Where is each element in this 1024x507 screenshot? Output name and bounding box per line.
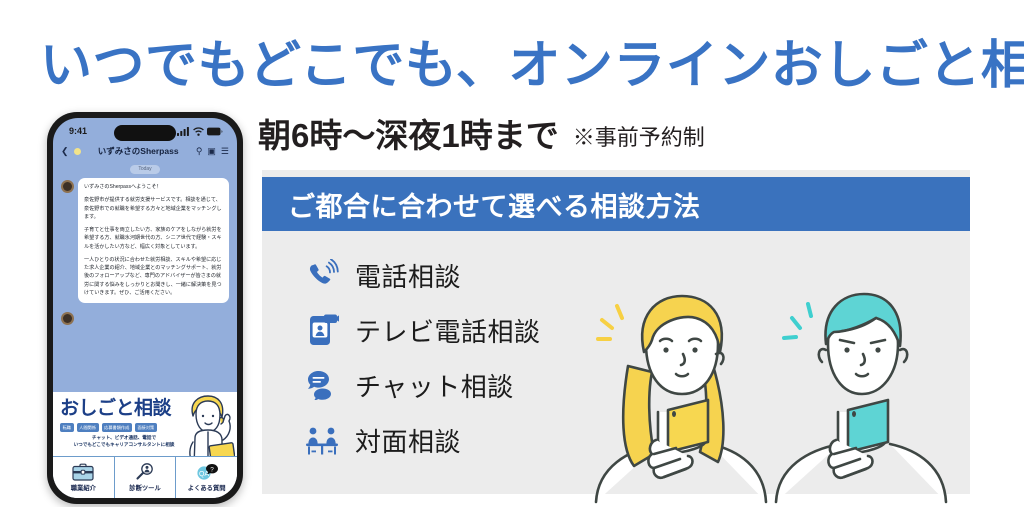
avatar xyxy=(61,180,74,193)
nav-item-label: 職業紹介 xyxy=(71,483,96,492)
consultation-options-list: 電話相談 テレビ電話相談 xyxy=(300,252,541,463)
list-item[interactable]: 対面相談 xyxy=(300,417,541,463)
subheading: 朝6時〜深夜1時まで ※事前予約制 xyxy=(258,116,705,156)
slide-canvas: いつでもどこでも、オンラインおしごと相談 朝6時〜深夜1時まで ※事前予約制 ご… xyxy=(0,0,1024,507)
avatar xyxy=(74,148,81,155)
chat-paragraph: 子育てと仕事を両立したい方、家族のケアをしながら就労を希望する方、就職氷河期世代… xyxy=(84,226,223,251)
phone-notch xyxy=(114,125,176,141)
search-icon[interactable]: ⚲ xyxy=(196,147,203,156)
video-call-phone-icon xyxy=(300,309,346,351)
status-badge: 転職 xyxy=(60,423,74,432)
list-item[interactable]: テレビ電話相談 xyxy=(300,307,541,353)
two-people-with-smartphones-illustration xyxy=(590,282,990,504)
status-badge: 応募書類作成 xyxy=(102,423,132,432)
chat-paragraph: いずみさのSherpassへようこそ！ xyxy=(84,183,223,191)
panel-header-bar: ご都合に合わせて選べる相談方法 xyxy=(262,177,970,231)
nav-item-label: よくある質問 xyxy=(188,483,226,492)
phone-ringing-icon xyxy=(300,254,346,296)
list-item[interactable]: 電話相談 xyxy=(300,252,541,298)
face-to-face-meeting-icon xyxy=(300,419,346,461)
promo-subtitle: チャット、ビデオ通話、電話で いつでもどこでもキャリアコンサルタントに相談 xyxy=(60,435,188,449)
promo-card[interactable]: おしごと相談 転職 人間関係 応募書類作成 面接対策 チャット、ビデオ通話、電話… xyxy=(53,392,237,498)
app-title: いずみさのSherpass xyxy=(86,145,191,157)
status-badge: 面接対策 xyxy=(135,423,157,432)
chat-bubble: いずみさのSherpassへようこそ！ 泉佐野市が提供する就労支援サービスです。… xyxy=(78,178,229,303)
hours-text: 朝6時〜深夜1時まで xyxy=(258,116,559,156)
promo-top: おしごと相談 転職 人間関係 応募書類作成 面接対策 チャット、ビデオ通話、電話… xyxy=(53,392,237,456)
chat-paragraph: 泉佐野市が提供する就労支援サービスです。相談を通じて、泉佐野市での就職を希望する… xyxy=(84,196,223,221)
list-item-label: 対面相談 xyxy=(355,422,461,459)
nav-item-diagnosis[interactable]: 診断ツール xyxy=(115,457,177,498)
status-time: 9:41 xyxy=(69,126,87,136)
nav-item-jobs[interactable]: 職業紹介 xyxy=(53,457,115,498)
avatar xyxy=(61,312,74,325)
chat-message-row: いずみさのSherpassへようこそ！ 泉佐野市が提供する就労支援サービスです。… xyxy=(53,178,237,303)
briefcase-icon xyxy=(72,463,94,481)
reservation-note: ※事前予約制 xyxy=(573,120,705,156)
qa-bubble-icon: QA ? xyxy=(194,463,220,481)
svg-text:?: ? xyxy=(210,466,214,473)
phone-screen: 9:41 xyxy=(53,118,237,498)
date-divider-chip: Today xyxy=(130,165,160,174)
signal-bars-icon xyxy=(177,127,190,136)
list-item[interactable]: チャット相談 xyxy=(300,362,541,408)
list-item-label: チャット相談 xyxy=(355,367,514,404)
bottom-nav: 職業紹介 診断ツール QA xyxy=(53,456,237,498)
page-title: いつでもどこでも、オンラインおしごと相談 xyxy=(40,36,1000,96)
nav-item-faq[interactable]: QA ? よくある質問 xyxy=(176,457,237,498)
nav-item-label: 診断ツール xyxy=(129,483,160,492)
chat-paragraph: 一人ひとりの状況に合わせた就労相談、スキルや希望に応じた求人企業の紹介、地域企業… xyxy=(84,256,223,297)
app-header: ❮ いずみさのSherpass ⚲ ▣ ☰ xyxy=(53,140,237,162)
list-item-label: テレビ電話相談 xyxy=(355,312,541,349)
smartphone-mockup: 9:41 xyxy=(47,112,243,504)
svg-text:QA: QA xyxy=(199,471,209,478)
status-badge: 人間関係 xyxy=(77,423,99,432)
wifi-icon xyxy=(193,127,204,136)
panel-header-title: ご都合に合わせて選べる相談方法 xyxy=(262,185,701,224)
chat-bubble-icon xyxy=(300,364,346,406)
hamburger-menu-icon[interactable]: ☰ xyxy=(221,147,229,156)
chevron-left-icon[interactable]: ❮ xyxy=(61,147,69,156)
battery-full-icon xyxy=(207,127,223,136)
magnifier-person-icon xyxy=(134,463,156,481)
note-icon[interactable]: ▣ xyxy=(207,147,216,156)
list-item-label: 電話相談 xyxy=(355,257,461,294)
